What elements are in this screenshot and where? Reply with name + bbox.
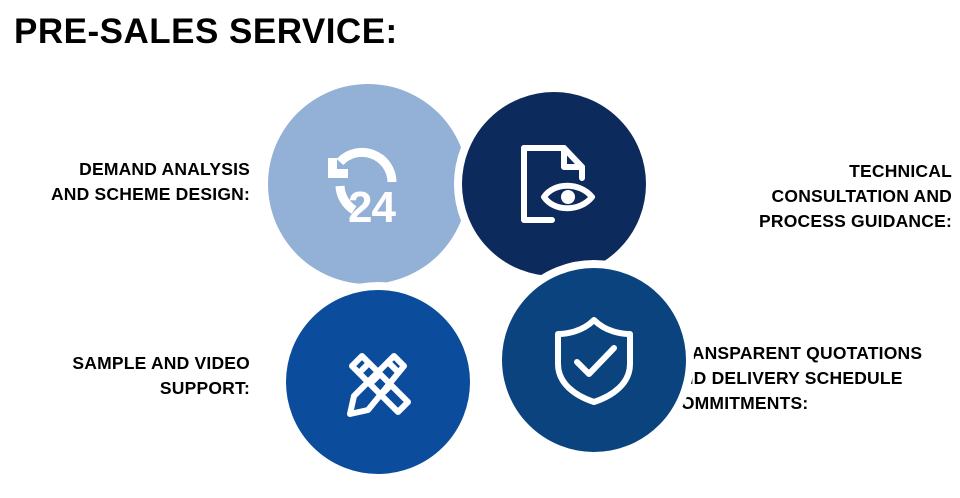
circle-cluster: 24 bbox=[264, 84, 684, 484]
label-technical-consultation: TECHNICAL CONSULTATION AND PROCESS GUIDA… bbox=[728, 159, 952, 234]
clock-24-arrow-icon: 24 bbox=[318, 134, 418, 234]
svg-text:24: 24 bbox=[348, 183, 396, 232]
circle-technical-consultation[interactable] bbox=[454, 84, 654, 284]
label-transparent-quotations: TRANSPARENT QUOTATIONS AND DELIVERY SCHE… bbox=[668, 341, 960, 416]
circle-transparent-quotations[interactable] bbox=[494, 260, 694, 460]
circle-demand-analysis[interactable]: 24 bbox=[268, 84, 468, 284]
shield-check-icon bbox=[544, 310, 644, 410]
document-eye-icon bbox=[504, 134, 604, 234]
label-demand-analysis: DEMAND ANALYSIS AND SCHEME DESIGN: bbox=[10, 157, 250, 207]
circle-sample-video-support[interactable] bbox=[278, 282, 478, 482]
label-sample-video-support: SAMPLE AND VIDEO SUPPORT: bbox=[10, 351, 250, 401]
page-title: PRE-SALES SERVICE: bbox=[14, 10, 398, 54]
infographic-canvas: PRE-SALES SERVICE: 24 bbox=[0, 0, 960, 498]
pencil-ruler-icon bbox=[328, 332, 428, 432]
